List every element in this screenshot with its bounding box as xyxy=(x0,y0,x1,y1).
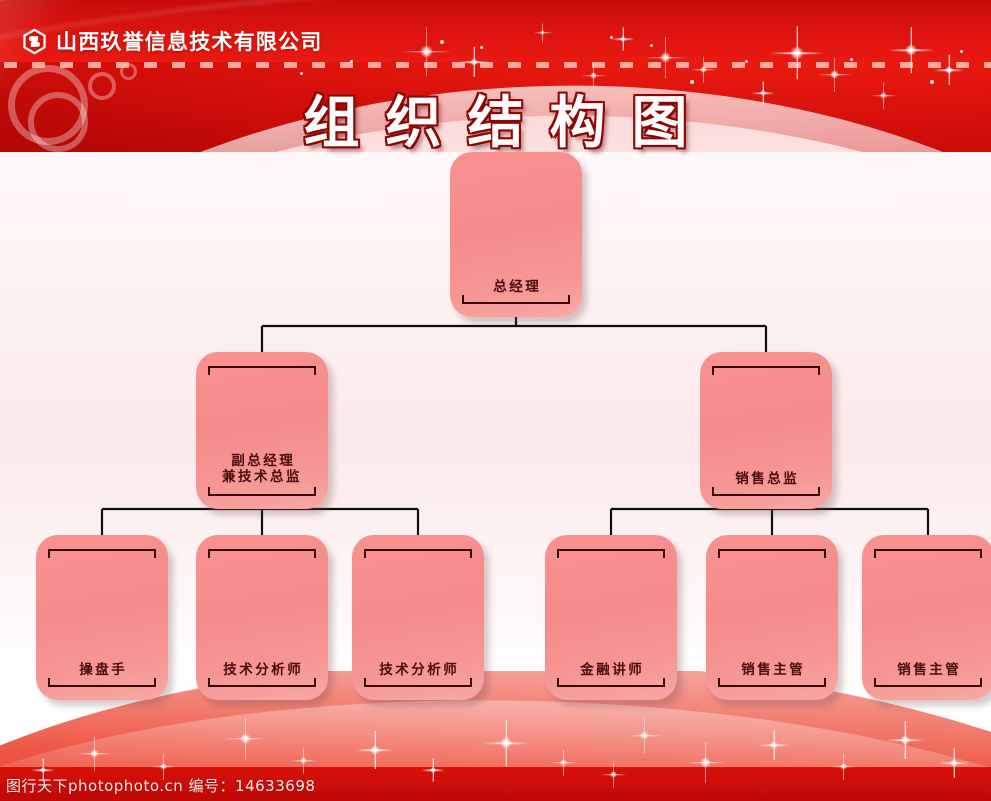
org-node-label: 销售主管 xyxy=(862,662,991,678)
org-node-top-bracket xyxy=(208,366,316,375)
org-node-top-bracket xyxy=(718,549,826,558)
org-node-top-bracket xyxy=(712,366,820,375)
org-node-label: 销售总监 xyxy=(700,471,832,487)
org-node-label-underline xyxy=(712,487,820,496)
org-node-label: 操盘手 xyxy=(36,662,168,678)
org-node-top-bracket xyxy=(208,549,316,558)
organization-chart-poster: 山西玖誉信息技术有限公司 组织结构图 图行天下photophoto.cn 编号：… xyxy=(0,0,991,801)
org-node[interactable]: 总经理 xyxy=(450,152,582,317)
org-node-label-underline xyxy=(364,678,472,687)
org-node-label-underline xyxy=(874,678,982,687)
org-node-top-bracket xyxy=(874,549,982,558)
org-node-label-underline xyxy=(208,487,316,496)
org-node-label: 总经理 xyxy=(450,279,582,295)
org-node[interactable]: 操盘手 xyxy=(36,535,168,700)
org-node[interactable]: 技术分析师 xyxy=(196,535,328,700)
org-node-label-underline xyxy=(208,678,316,687)
org-node-label: 销售主管 xyxy=(706,662,838,678)
org-node-top-bracket xyxy=(364,549,472,558)
org-node[interactable]: 副总经理 兼技术总监 xyxy=(196,352,328,509)
org-node-top-bracket xyxy=(557,549,665,558)
org-node-label: 技术分析师 xyxy=(352,662,484,678)
org-node-label: 副总经理 兼技术总监 xyxy=(196,453,328,485)
org-node-label-underline xyxy=(718,678,826,687)
org-node[interactable]: 技术分析师 xyxy=(352,535,484,700)
org-chart: 总经理副总经理 兼技术总监销售总监操盘手技术分析师技术分析师金融讲师销售主管销售… xyxy=(0,0,991,801)
org-node[interactable]: 销售总监 xyxy=(700,352,832,509)
org-node-label-underline xyxy=(557,678,665,687)
org-node-label: 技术分析师 xyxy=(196,662,328,678)
org-node[interactable]: 销售主管 xyxy=(706,535,838,700)
org-node-label-underline xyxy=(48,678,156,687)
watermark-text: 图行天下photophoto.cn 编号：14633698 xyxy=(6,775,315,796)
org-node[interactable]: 销售主管 xyxy=(862,535,991,700)
org-node-top-bracket xyxy=(48,549,156,558)
org-node[interactable]: 金融讲师 xyxy=(545,535,677,700)
org-node-label-underline xyxy=(462,295,570,304)
org-node-label: 金融讲师 xyxy=(545,662,677,678)
